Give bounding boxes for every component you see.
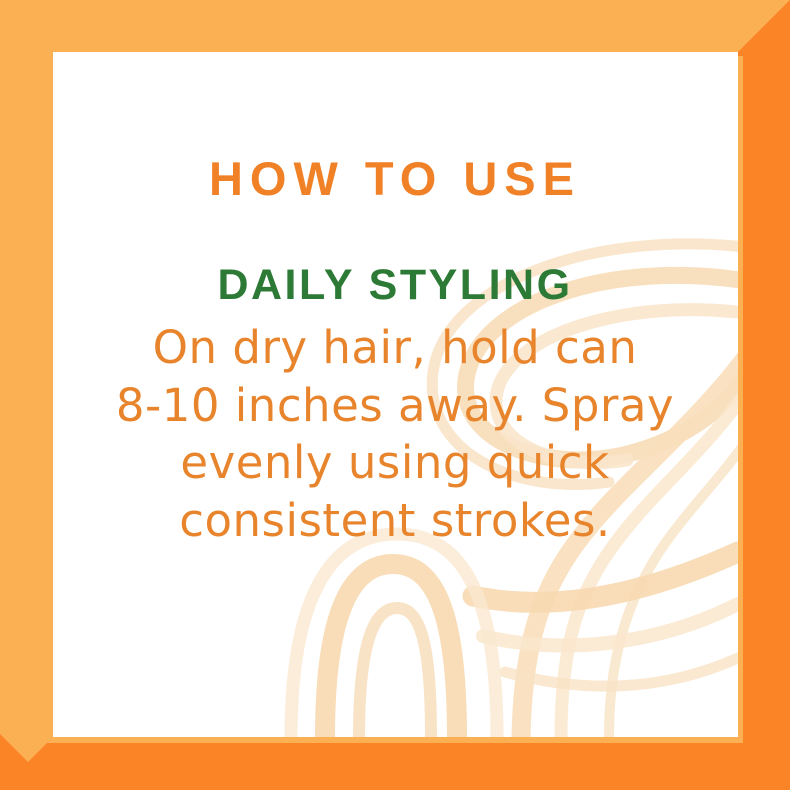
instruction-line: On dry hair, hold can — [0, 319, 790, 377]
instruction-line: consistent strokes. — [0, 492, 790, 550]
instruction-line: 8-10 inches away. Spray — [0, 377, 790, 435]
text-content: HOW TO USE DAILY STYLING On dry hair, ho… — [0, 0, 790, 549]
how-to-use-card: HOW TO USE DAILY STYLING On dry hair, ho… — [0, 0, 790, 790]
instruction-line: evenly using quick — [0, 434, 790, 492]
page-title: HOW TO USE — [0, 0, 790, 202]
section-subtitle: DAILY STYLING — [0, 202, 790, 307]
instruction-text: On dry hair, hold can 8-10 inches away. … — [0, 307, 790, 549]
